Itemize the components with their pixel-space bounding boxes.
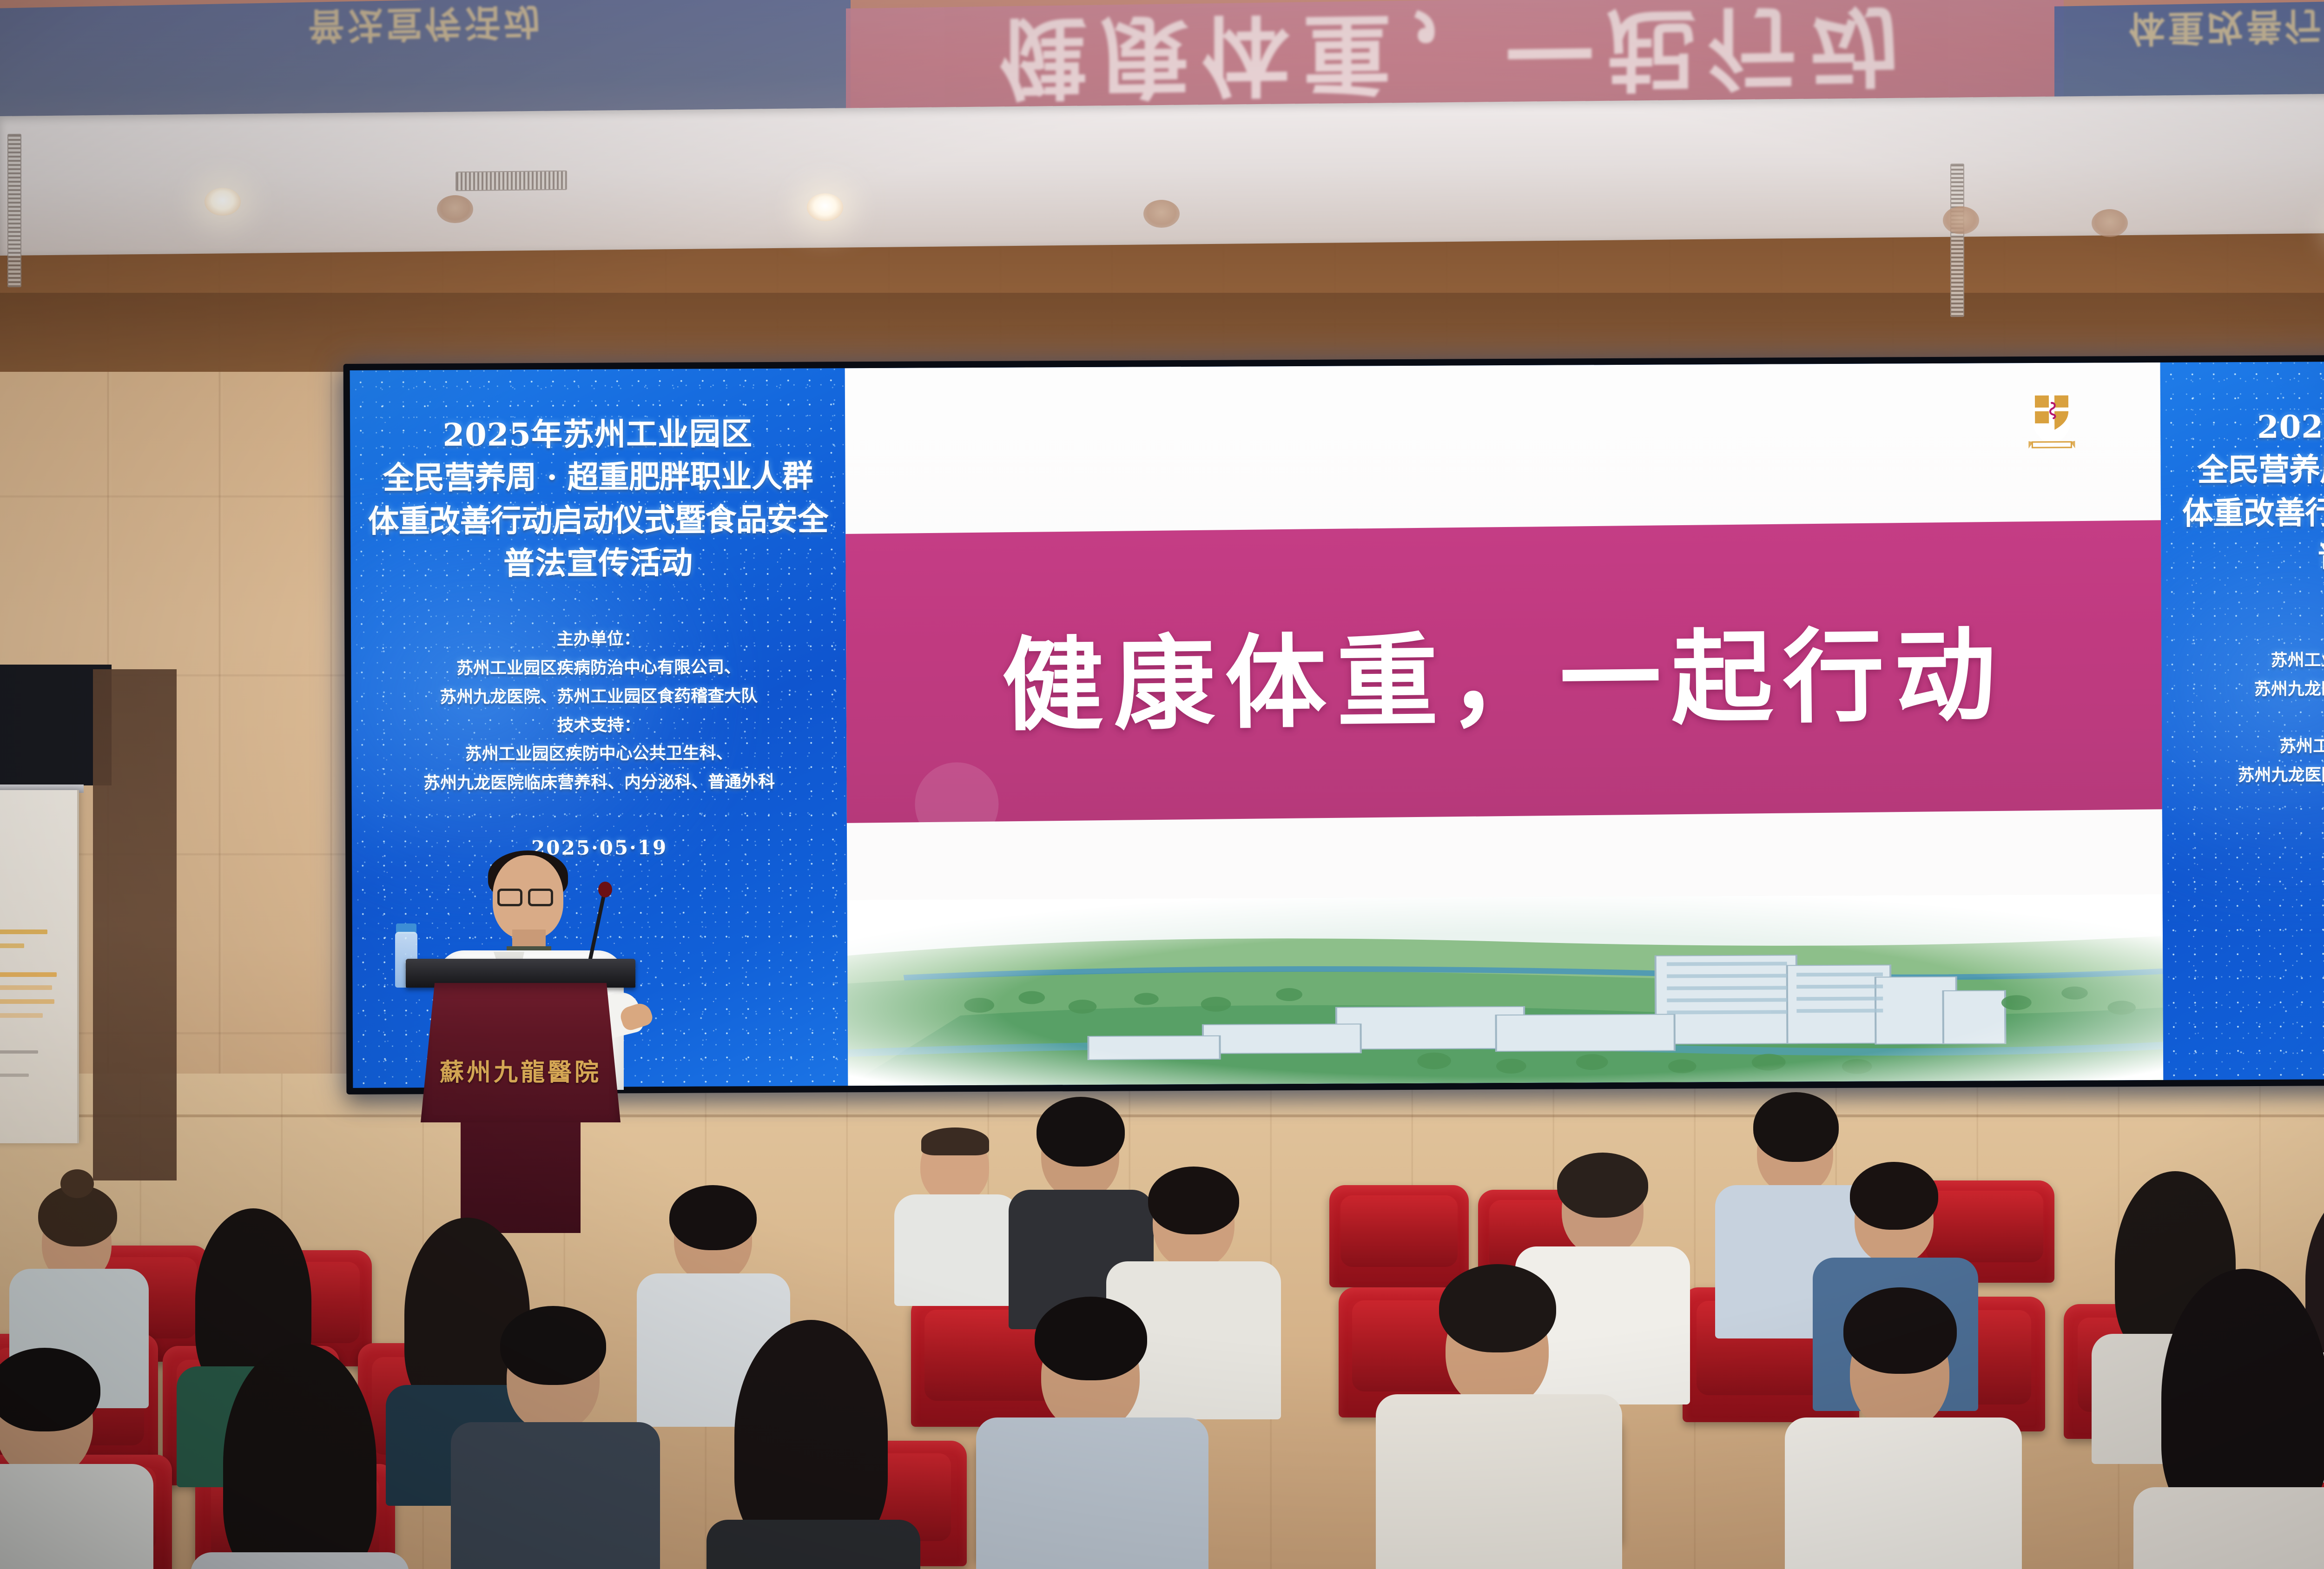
ceiling-downlight-5 [1943,206,1979,234]
ceiling-downlight-4 [1143,200,1180,228]
air-vent-center [456,171,567,191]
right-title-line-2: 全民营养周 · 超重肥胖职业人群 [2176,447,2324,492]
right-organizer-1: 苏州工业园区疾病防治中心有限公司、 [2177,645,2324,675]
ceiling-reflection-left-text: 普法宣传活动 [0,0,851,52]
ceiling-reflection-headline: 健康体重，一起行动 [846,0,2064,106]
left-supporter-2: 苏州九龙医院临床营养科、内分泌科、普通外科 [367,768,831,798]
left-title-line-3: 体重改善行动启动仪式暨食品安全 [366,498,830,543]
right-supporter-1: 苏州工业园区疾防中心公共卫生科、 [2178,731,2324,762]
right-supporter-2: 苏州九龙医院临床营养科、内分泌科、普通外科 [2178,760,2324,791]
left-organizer-2: 苏州九龙医院、苏州工业园区食药稽查大队 [367,681,831,712]
right-title-line-4: 普法宣传活动 [2177,533,2324,578]
screen-center-slide: 健康体重，一起行动 [845,363,2164,1086]
microphone-head [598,882,612,897]
left-title-line-4: 普法宣传活动 [366,541,830,586]
air-vent-left [7,134,21,287]
left-supporter-1: 苏州工业园区疾防中心公共卫生科、 [367,739,831,770]
ceiling-soffit [0,89,2324,256]
screen-content: 2025年苏州工业园区 全民营养周 · 超重肥胖职业人群 体重改善行动启动仪式暨… [350,360,2324,1088]
slide-headline-band: 健康体重，一起行动 [845,520,2164,823]
auditorium-scene: 普法宣传活动 健康体重，一起行动 体重改善行动启动仪式暨食品安全 2025年苏州… [0,0,2324,1569]
led-wall-screen[interactable]: 2025年苏州工业园区 全民营养周 · 超重肥胖职业人群 体重改善行动启动仪式暨… [343,354,2324,1094]
right-support-label: 技术支持： [2178,702,2324,733]
ceiling-reflection-right-text: 体重改善行动启动仪式暨食品安全 [2054,0,2324,50]
left-support-label: 技术支持： [367,710,831,741]
right-title-line-3: 体重改善行动启动仪式暨食品安全 [2177,490,2324,535]
ceiling-downlight-3 [807,193,843,221]
audience-seating [0,1046,2324,1569]
left-organizer-1: 苏州工业园区疾病防治中心有限公司、 [367,653,830,683]
right-organizer-2: 苏州九龙医院、苏州工业园区食药稽查大队 [2178,673,2324,704]
speaker-glasses [497,889,558,907]
hospital-shield-logo [2027,390,2077,449]
ceiling-downlight-2 [437,195,473,223]
right-title-line-1: 2025年苏州工业园区 [2176,404,2324,449]
slide-headline: 健康体重，一起行动 [1001,593,2007,751]
seat-row-back-3[interactable] [1329,1185,1469,1287]
air-vent-right [1950,164,1964,317]
left-title-line-2: 全民营养周 · 超重肥胖职业人群 [366,455,829,500]
right-event-date: 2025·05·19 [2178,828,2324,852]
screen-right-panel: 2025年苏州工业园区 全民营养周 · 超重肥胖职业人群 体重改善行动启动仪式暨… [2160,360,2324,1080]
ceiling-downlight-6 [2092,209,2128,237]
ceiling-downlight-1 [205,188,241,216]
left-title-line-1: 2025年苏州工业园区 [366,412,829,457]
left-organizer-label: 主办单位： [367,624,830,654]
right-organizer-label: 主办单位： [2177,616,2324,646]
band-decorative-dot [914,762,999,846]
